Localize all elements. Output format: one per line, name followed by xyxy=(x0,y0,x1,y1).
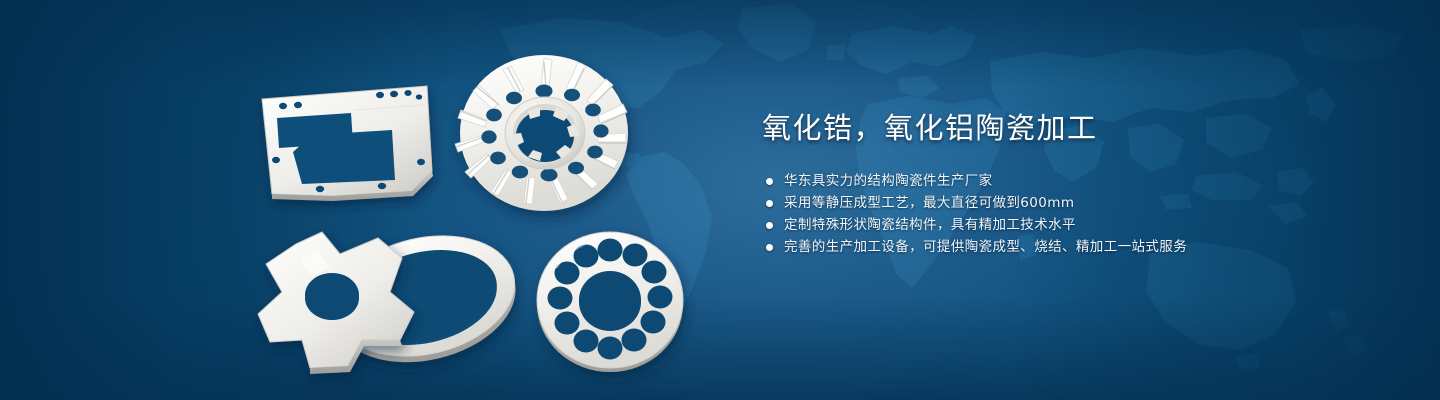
feature-text: 定制特殊形状陶瓷结构件，具有精加工技术水平 xyxy=(784,214,1076,236)
dot-bullet-icon xyxy=(766,178,773,185)
hero-banner: 氧化锆，氧化铝陶瓷加工 华东具实力的结构陶瓷件生产厂家 采用等静压成型工艺，最大… xyxy=(0,0,1440,400)
product-photo-group xyxy=(0,0,740,400)
list-item: 采用等静压成型工艺，最大直径可做到600mm xyxy=(766,192,1382,214)
ceramic-mounting-plate xyxy=(262,86,433,201)
list-item: 华东具实力的结构陶瓷件生产厂家 xyxy=(766,170,1382,192)
list-item: 完善的生产加工设备，可提供陶瓷成型、烧结、精加工一站式服务 xyxy=(766,236,1382,258)
banner-headline: 氧化锆，氧化铝陶瓷加工 xyxy=(762,108,1382,148)
banner-copy: 氧化锆，氧化铝陶瓷加工 华东具实力的结构陶瓷件生产厂家 采用等静压成型工艺，最大… xyxy=(762,108,1382,258)
ceramic-perforated-disc xyxy=(537,232,683,372)
dot-bullet-icon xyxy=(766,244,773,251)
feature-text: 采用等静压成型工艺，最大直径可做到600mm xyxy=(784,192,1074,214)
feature-list: 华东具实力的结构陶瓷件生产厂家 采用等静压成型工艺，最大直径可做到600mm 定… xyxy=(766,170,1382,258)
list-item: 定制特殊形状陶瓷结构件，具有精加工技术水平 xyxy=(766,214,1382,236)
feature-text: 完善的生产加工设备，可提供陶瓷成型、烧结、精加工一站式服务 xyxy=(784,236,1187,258)
dot-bullet-icon xyxy=(766,200,773,207)
dot-bullet-icon xyxy=(766,222,773,229)
ceramic-impeller-disc xyxy=(455,55,628,211)
feature-text: 华东具实力的结构陶瓷件生产厂家 xyxy=(784,170,993,192)
